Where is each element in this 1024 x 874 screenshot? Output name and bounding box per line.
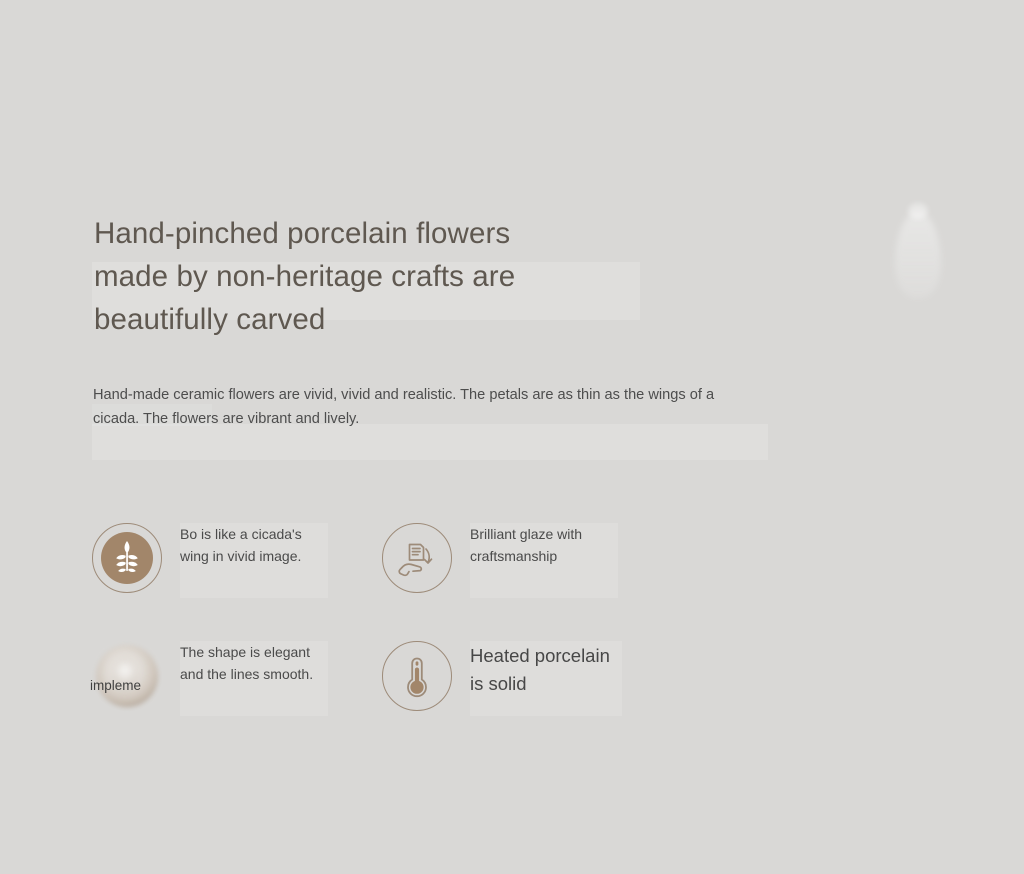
feature-section: Hand-pinched porcelain flowers made by n… <box>0 0 1024 874</box>
decorative-vase-neck <box>908 203 928 219</box>
feature-label: Bo is like a cicada's wing in vivid imag… <box>180 523 328 598</box>
feature-grid: Bo is like a cicada's wing in vivid imag… <box>92 516 672 752</box>
feature-label: Heated porcelain is solid <box>470 641 622 716</box>
feature-row-top: Bo is like a cicada's wing in vivid imag… <box>92 516 672 634</box>
hand-document-glyph <box>382 523 452 593</box>
section-body-text: Hand-made ceramic flowers are vivid, viv… <box>93 383 753 431</box>
hand-holding-document-icon <box>382 523 452 593</box>
blurred-seal-icon: impleme <box>92 641 162 711</box>
feature-row-bottom: impleme The shape is elegant and the lin… <box>92 634 672 752</box>
feature-item: Heated porcelain is solid <box>382 634 672 752</box>
feature-item: Bo is like a cicada's wing in vivid imag… <box>92 516 382 634</box>
feature-label: Brilliant glaze with craftsmanship <box>470 523 618 598</box>
thermometer-glyph <box>382 641 452 711</box>
decorative-vase-silhouette <box>895 212 941 298</box>
wheat-sprig-glyph <box>92 523 162 593</box>
icon-overlay-label: impleme <box>90 677 158 695</box>
feature-item: impleme The shape is elegant and the lin… <box>92 634 382 752</box>
icon-blur-artifact: impleme <box>92 641 162 711</box>
feature-item: Brilliant glaze with craftsmanship <box>382 516 672 634</box>
section-heading: Hand-pinched porcelain flowers made by n… <box>94 212 654 341</box>
wheat-sprig-icon <box>92 523 162 593</box>
thermometer-icon <box>382 641 452 711</box>
feature-label: The shape is elegant and the lines smoot… <box>180 641 328 716</box>
